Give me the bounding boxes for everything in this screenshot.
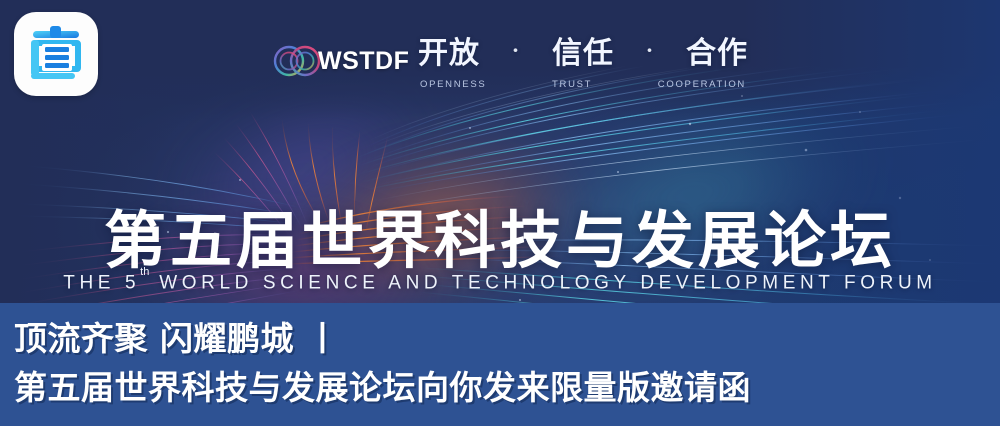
slogan-cn-openness: 开放	[418, 28, 480, 72]
caption-bar: 顶流齐聚 闪耀鹏城 丨 第五届世界科技与发展论坛向你发来限量版邀请函	[0, 303, 1000, 426]
forum-title-en-prefix: THE 5	[63, 272, 140, 293]
slogan-en-cooperation: COOPERATION	[658, 79, 746, 90]
live-icon-glyph	[25, 23, 87, 85]
forum-slogan: 开放 · 信任 · 合作 OPENNESS TRUST COOPERATION	[418, 28, 748, 90]
caption-line-2: 第五届世界科技与发展论坛向你发来限量版邀请函	[14, 363, 1000, 412]
caption-line-1: 顶流齐聚 闪耀鹏城 丨	[14, 314, 1000, 363]
slogan-separator-1: ·	[510, 38, 522, 62]
live-broadcast-icon[interactable]	[14, 12, 98, 96]
banner-image: WSTDF 开放 · 信任 · 合作 OPENNESS TRUST COOPER…	[0, 0, 1000, 426]
wstdf-wordmark: WSTDF	[318, 47, 409, 76]
forum-title-cn: 第五届世界科技与发展论坛	[0, 190, 1000, 280]
slogan-cn-trust: 信任	[552, 28, 614, 72]
forum-title-en: THE 5th WORLD SCIENCE AND TECHNOLOGY DEV…	[0, 272, 1000, 294]
slogan-en-trust: TRUST	[552, 79, 592, 90]
slogan-separator-2: ·	[644, 38, 656, 62]
slogan-en-openness: OPENNESS	[420, 79, 486, 90]
forum-title-en-rest: WORLD SCIENCE AND TECHNOLOGY DEVELOPMENT…	[159, 272, 936, 293]
wstdf-logo: WSTDF	[272, 38, 409, 84]
slogan-cn-cooperation: 合作	[686, 28, 748, 72]
forum-title-en-ordinal: th	[140, 266, 149, 278]
